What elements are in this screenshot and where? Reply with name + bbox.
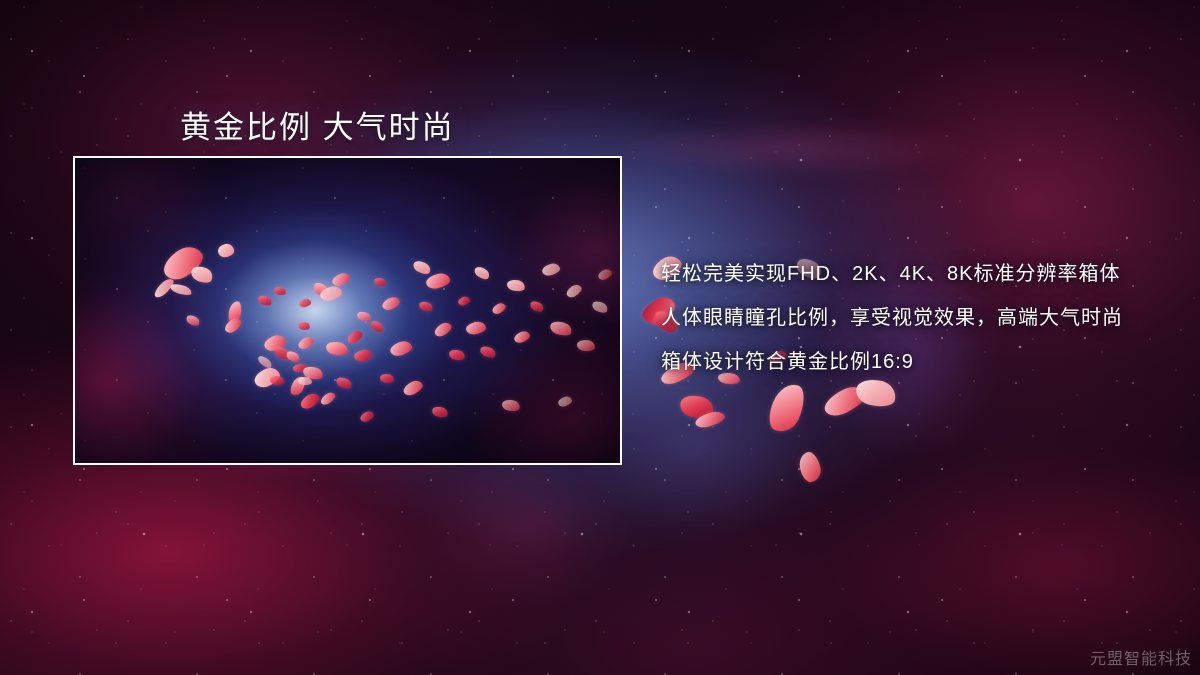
body-copy-line: 人体眼睛瞳孔比例，享受视觉效果，高端大气时尚 [661, 296, 1123, 340]
presentation-slide: 黄金比例 大气时尚 轻松完美实现FHD、2K、4K、8K标准分辨率箱体人体眼睛瞳… [0, 0, 1200, 675]
body-copy-line: 箱体设计符合黄金比例16:9 [661, 340, 1123, 384]
petal-icon [694, 409, 726, 430]
nebula-photo [75, 158, 620, 463]
body-copy-line: 轻松完美实现FHD、2K、4K、8K标准分辨率箱体 [661, 252, 1123, 296]
framed-image-panel [73, 156, 622, 465]
watermark: 元盟智能科技 [1090, 645, 1192, 669]
page-title: 黄金比例 大气时尚 [180, 102, 455, 147]
petal-icon [764, 379, 811, 437]
petal-icon [820, 381, 869, 420]
body-copy: 轻松完美实现FHD、2K、4K、8K标准分辨率箱体人体眼睛瞳孔比例，享受视觉效果… [661, 252, 1123, 384]
petal-icon [797, 450, 824, 484]
petal-icon [678, 392, 717, 423]
